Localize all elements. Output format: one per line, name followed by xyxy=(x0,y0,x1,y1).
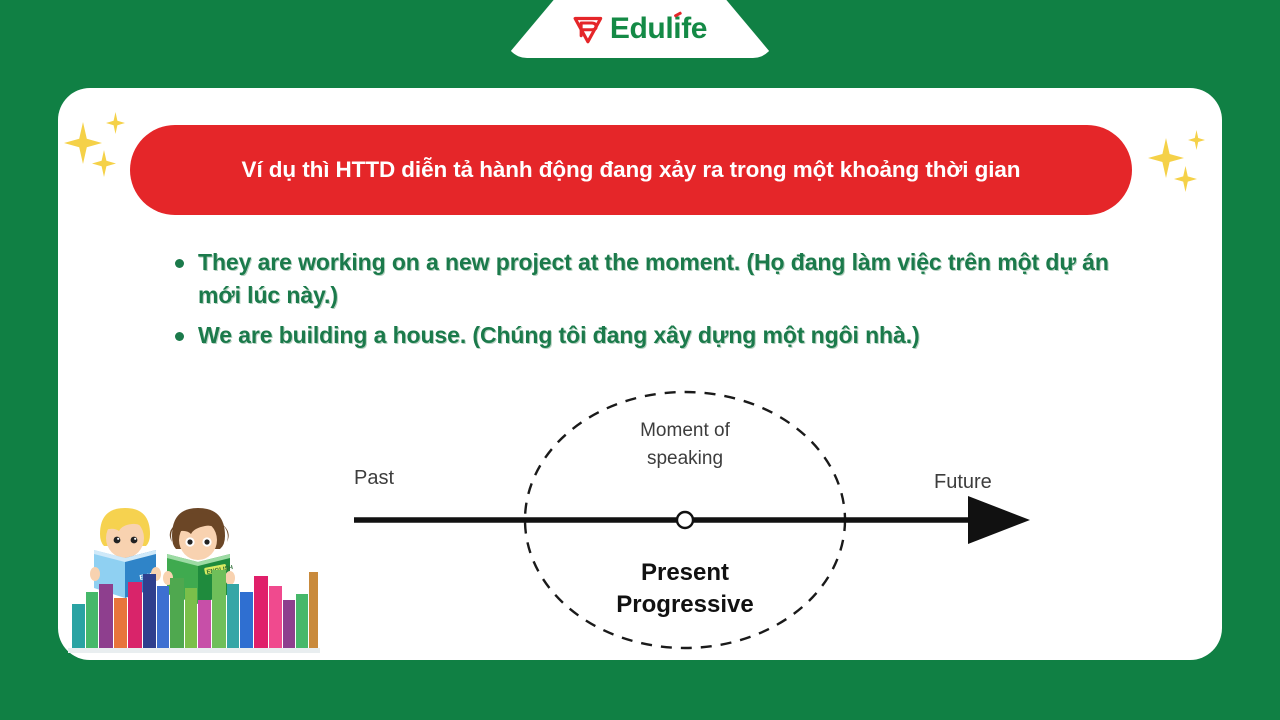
brand-lockup: Edulife xyxy=(573,12,707,46)
moment-node-icon xyxy=(677,512,693,528)
diagram-title-line2: Progressive xyxy=(616,591,753,618)
timeline-diagram: Past Future Moment of speaking Present P… xyxy=(340,388,1030,650)
list-item-text: They are working on a new project at the… xyxy=(198,246,1135,313)
edulife-triangle-logo-icon xyxy=(573,14,603,44)
headline-banner: Ví dụ thì HTTD diễn tả hành động đang xả… xyxy=(130,125,1132,215)
past-label: Past xyxy=(354,467,394,489)
brand-tab: Edulife xyxy=(505,0,775,58)
brand-wordmark: Edulife xyxy=(610,12,707,46)
list-item-text: We are building a house. (Chúng tôi đang… xyxy=(198,319,920,352)
timeline-arrowhead xyxy=(968,496,1030,544)
headline-banner-text: Ví dụ thì HTTD diễn tả hành động đang xả… xyxy=(216,157,1047,183)
list-item: They are working on a new project at the… xyxy=(175,246,1135,313)
bullet-dot-icon xyxy=(175,259,184,268)
kids-reading-illustration: ENGLISH ENGLIS xyxy=(68,488,320,658)
kid-right xyxy=(170,508,229,560)
moment-label-line1: Moment of xyxy=(640,420,730,441)
list-item: We are building a house. (Chúng tôi đang… xyxy=(175,319,1135,352)
slide-root: Edulife Ví dụ thì HTTD diễn tả hành động… xyxy=(0,0,1280,720)
kid-left xyxy=(100,508,150,558)
diagram-title-line1: Present xyxy=(641,559,729,586)
moment-label-line2: speaking xyxy=(647,448,723,469)
bullet-dot-icon xyxy=(175,332,184,341)
future-label: Future xyxy=(934,471,992,493)
example-list: They are working on a new project at the… xyxy=(175,246,1135,358)
